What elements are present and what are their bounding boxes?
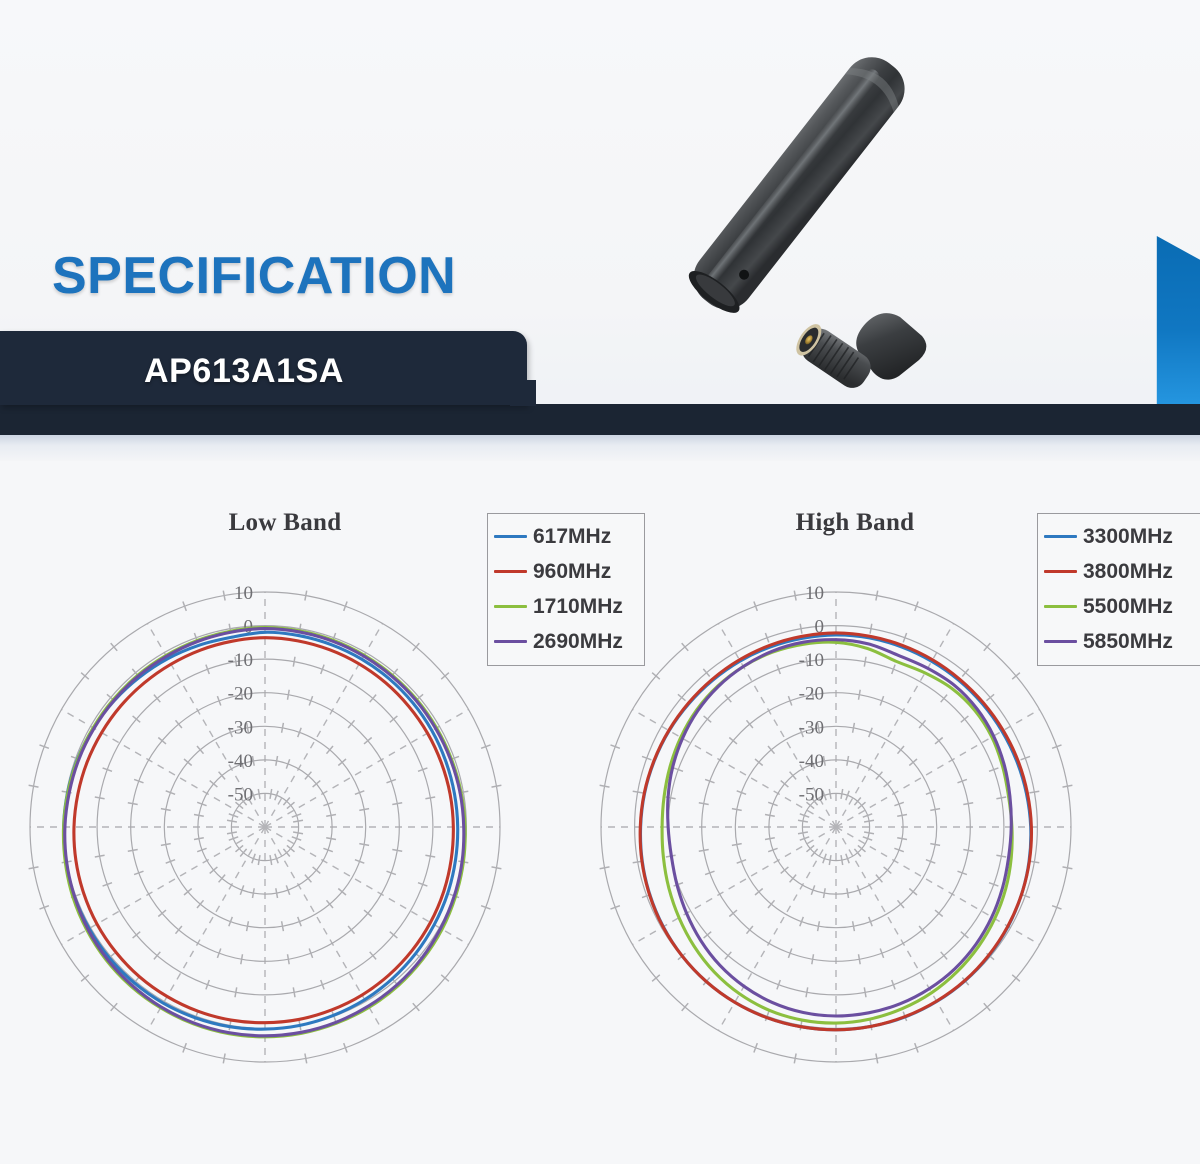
legend-label: 617MHz bbox=[533, 525, 611, 549]
legend-item: 3300MHz bbox=[1044, 519, 1200, 554]
legend-item: 5500MHz bbox=[1044, 589, 1200, 624]
legend-color-swatch bbox=[494, 570, 527, 574]
legend-color-swatch bbox=[494, 605, 527, 609]
legend-item: 5850MHz bbox=[1044, 624, 1200, 659]
legend-color-swatch bbox=[1044, 535, 1077, 539]
legend-label: 5850MHz bbox=[1083, 630, 1173, 654]
legend-label: 3300MHz bbox=[1083, 525, 1173, 549]
legend-color-swatch bbox=[1044, 570, 1077, 574]
legend-item: 1710MHz bbox=[494, 589, 636, 624]
page-title: SPECIFICATION bbox=[52, 246, 456, 306]
radial-axis-label: -40 bbox=[799, 751, 824, 772]
product-image-antenna bbox=[600, 30, 1040, 405]
legend-high-band: 3300MHz3800MHz5500MHz5850MHz bbox=[1037, 513, 1200, 666]
legend-label: 960MHz bbox=[533, 560, 611, 584]
radial-axis-label: -30 bbox=[799, 717, 824, 738]
radial-axis-label: 10 bbox=[805, 583, 824, 604]
header-underline-gradient bbox=[0, 435, 1200, 461]
legend-label: 5500MHz bbox=[1083, 595, 1173, 619]
legend-label: 3800MHz bbox=[1083, 560, 1173, 584]
legend-color-swatch bbox=[494, 535, 527, 539]
antenna-illustration bbox=[600, 30, 1040, 405]
radial-axis-label: -50 bbox=[799, 784, 824, 805]
navy-band bbox=[0, 404, 1200, 435]
hero-header: SPECIFICATION AP613A1SA bbox=[0, 0, 1200, 436]
radial-axis-label: -20 bbox=[799, 684, 824, 705]
legend-color-swatch bbox=[1044, 605, 1077, 609]
legend-item: 960MHz bbox=[494, 554, 636, 589]
blue-accent-shape bbox=[1140, 236, 1200, 406]
legend-color-swatch bbox=[1044, 640, 1077, 644]
legend-item: 617MHz bbox=[494, 519, 636, 554]
model-number: AP613A1SA bbox=[144, 352, 344, 391]
legend-label: 2690MHz bbox=[533, 630, 623, 654]
legend-item: 2690MHz bbox=[494, 624, 636, 659]
legend-item: 3800MHz bbox=[1044, 554, 1200, 589]
legend-color-swatch bbox=[494, 640, 527, 644]
model-plate-corner-fill bbox=[510, 380, 536, 406]
radial-axis-label: -10 bbox=[799, 650, 824, 671]
legend-label: 1710MHz bbox=[533, 595, 623, 619]
legend-low-band: 617MHz960MHz1710MHz2690MHz bbox=[487, 513, 645, 666]
